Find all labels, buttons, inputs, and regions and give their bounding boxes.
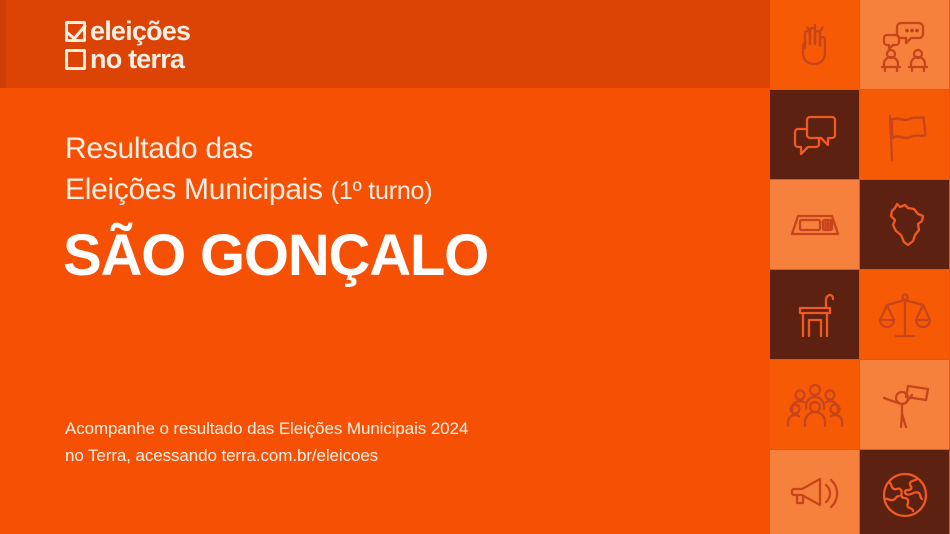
icon-tile-brazil-map <box>860 180 949 269</box>
icon-tile-scales-of-justice <box>860 270 949 359</box>
icon-tile-speech-bubbles <box>770 90 859 179</box>
icon-tile-people-discussion <box>860 0 949 89</box>
icon-tile-megaphone <box>770 450 859 534</box>
ballot-box-icon <box>786 196 844 254</box>
protester-sign-icon <box>876 376 934 434</box>
flag-icon <box>877 107 933 163</box>
footer-line-2: no Terra, acessando terra.com.br/eleicoe… <box>65 442 468 469</box>
icon-tile-ballot-box <box>770 180 859 269</box>
voting-booth-icon <box>787 287 843 343</box>
scales-of-justice-icon <box>876 286 934 344</box>
globe-icon <box>877 467 933 523</box>
icon-tile-flag <box>860 90 949 179</box>
raised-hands-icon <box>788 18 842 72</box>
icon-tile-raised-hands <box>770 0 859 89</box>
speech-bubbles-icon <box>787 107 843 163</box>
headline-line-1: Resultado das <box>65 128 432 169</box>
headline-line-2: Eleições Municipais <box>65 173 323 206</box>
empty-checkbox-icon <box>65 49 86 70</box>
poster-canvas: eleições no terra Resultado das Eleições… <box>0 0 950 534</box>
icon-tile-voting-booth <box>770 270 859 359</box>
headline: Resultado das Eleições Municipais(1º tur… <box>65 128 432 212</box>
brand-logo-line-1: eleições <box>65 18 190 44</box>
city-name: SÃO GONÇALO <box>63 225 488 287</box>
icon-tile-protester-sign <box>860 360 949 449</box>
icon-tile-globe <box>860 450 949 534</box>
people-discussion-icon <box>877 17 933 73</box>
brand-word-eleicoes: eleições <box>90 18 190 44</box>
footer-line-1: Acompanhe o resultado das Eleições Munic… <box>65 415 468 442</box>
left-edge-strip <box>0 0 6 88</box>
brand-logo: eleições no terra <box>65 18 190 72</box>
headline-line-2-wrap: Eleições Municipais(1º turno) <box>65 169 432 212</box>
megaphone-icon <box>786 466 844 524</box>
icon-grid <box>770 0 950 534</box>
brazil-map-icon <box>877 197 933 253</box>
checked-checkbox-icon <box>65 21 86 42</box>
brand-word-no-terra: no terra <box>90 46 184 72</box>
brand-logo-line-2: no terra <box>65 46 190 72</box>
headline-round-label: (1º turno) <box>331 177 433 205</box>
crowd-icon <box>786 376 844 434</box>
footer-callout: Acompanhe o resultado das Eleições Munic… <box>65 415 468 469</box>
icon-tile-crowd <box>770 360 859 449</box>
